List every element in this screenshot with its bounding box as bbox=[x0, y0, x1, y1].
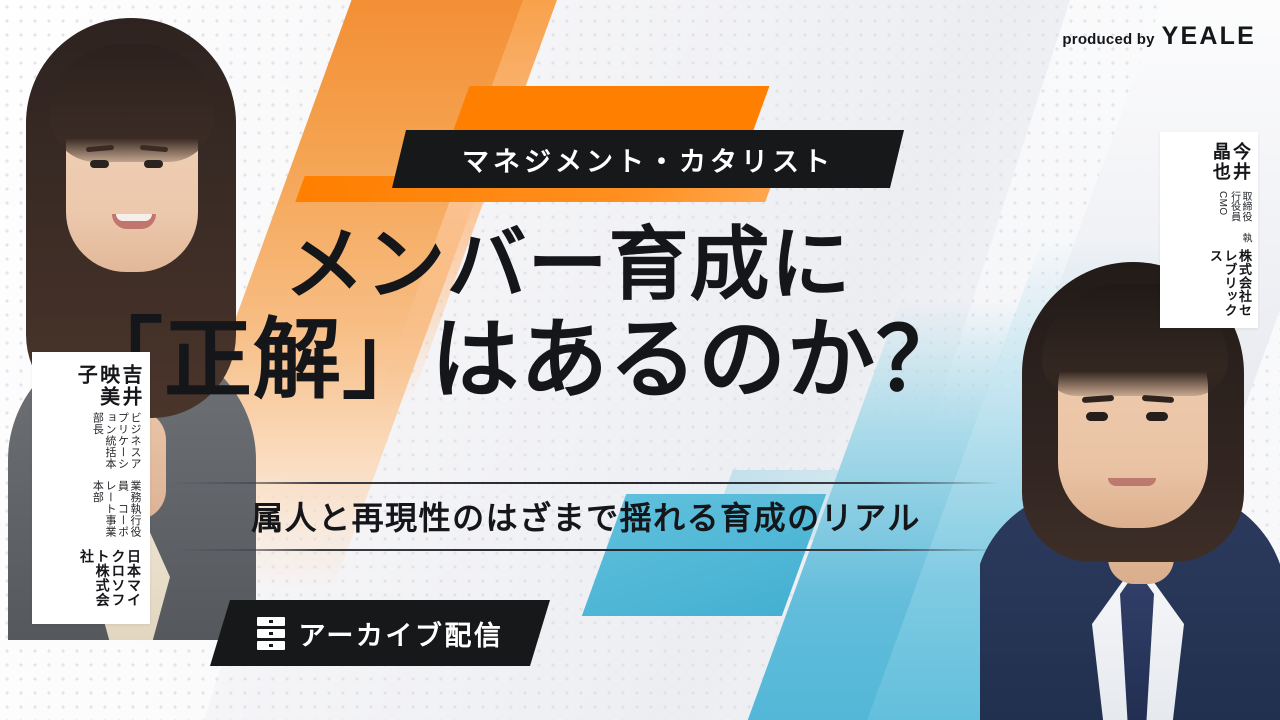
speaker-left-eye bbox=[144, 160, 163, 168]
speaker-right-eye bbox=[1146, 412, 1168, 421]
speaker-left-role-2: ビジネスアプリケーション統括本部長 bbox=[91, 412, 141, 476]
headline-line-1: メンバー育成に bbox=[0, 222, 1040, 307]
brand-name: YEALE bbox=[1162, 22, 1256, 51]
speaker-left-teeth bbox=[116, 214, 152, 221]
archive-rack-icon bbox=[257, 617, 285, 650]
brand-prefix: produced by bbox=[1062, 31, 1154, 48]
speaker-left-eye bbox=[90, 160, 109, 168]
speaker-right-org: 株式会社セレブリックス bbox=[1207, 249, 1251, 318]
speaker-left-fringe bbox=[50, 44, 214, 162]
headline-line-2: 「正解」はあるのか？ bbox=[0, 313, 1040, 406]
category-tag: マネジメント・カタリスト bbox=[392, 130, 904, 188]
speaker-right-name: 今井 晶也 bbox=[1211, 142, 1251, 188]
speaker-left-name: 吉井 映美子 bbox=[74, 364, 141, 408]
speaker-right-mouth bbox=[1108, 478, 1156, 486]
speaker-right-eye bbox=[1086, 412, 1108, 421]
speaker-credential-right: 株式会社セレブリックス 取締役 執行役員 CMO 今井 晶也 bbox=[1160, 132, 1258, 328]
speaker-left-role-1: 業務執行役員 コーポレート事業本部 bbox=[91, 480, 141, 544]
category-tag-label: マネジメント・カタリスト bbox=[462, 140, 834, 179]
brand-lockup: produced by YEALE bbox=[1062, 22, 1256, 51]
speaker-right-role-1: 取締役 執行役員 CMO bbox=[1217, 191, 1251, 246]
speaker-left-org: 日本マイクロソフト株式会社 bbox=[78, 549, 141, 612]
subtitle-text: 属人と再現性のはざまで揺れる育成のリアル bbox=[172, 484, 1000, 549]
webinar-banner: produced by YEALE マネジメント・カタリスト メンバー育成に 「… bbox=[0, 0, 1280, 720]
archive-badge: アーカイブ配信 bbox=[210, 600, 550, 666]
subtitle-block: 属人と再現性のはざまで揺れる育成のリアル bbox=[172, 482, 1000, 551]
page-title: メンバー育成に 「正解」はあるのか？ bbox=[0, 222, 1040, 406]
subtitle-rule-bottom bbox=[172, 549, 1000, 551]
speaker-credential-left: 日本マイクロソフト株式会社 業務執行役員 コーポレート事業本部 ビジネスアプリケ… bbox=[32, 352, 150, 624]
archive-badge-label: アーカイブ配信 bbox=[299, 614, 504, 653]
